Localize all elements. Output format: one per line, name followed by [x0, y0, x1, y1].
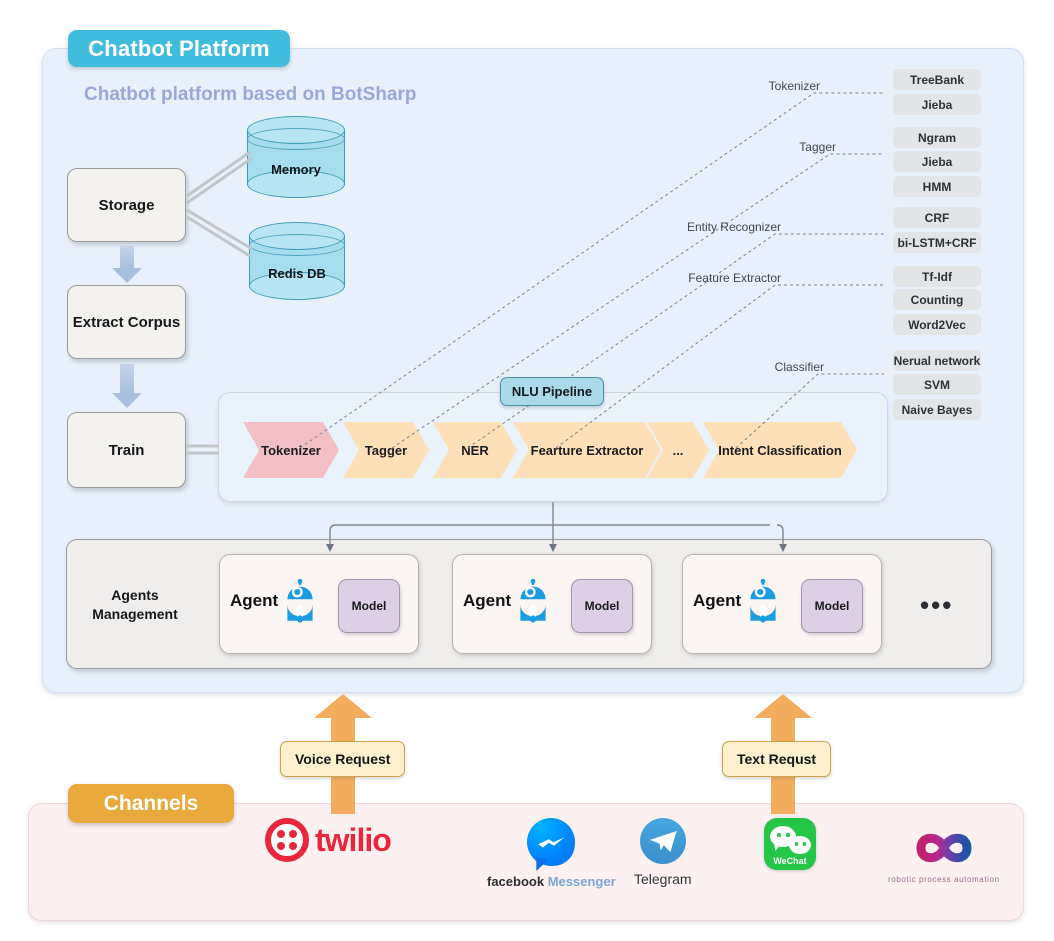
agents-title-line2: Management	[92, 606, 178, 622]
channel-telegram[interactable]: Telegram	[634, 818, 692, 887]
agent-card-2[interactable]: AgentModel	[682, 554, 882, 654]
nlu-stage-label: Tagger	[365, 443, 407, 458]
algorithm-tag-crf[interactable]: CRF	[893, 207, 981, 228]
agent-card-1[interactable]: AgentModel	[452, 554, 652, 654]
agent-card-label: Agent	[693, 591, 741, 611]
flow-box-storage[interactable]: Storage	[67, 168, 186, 242]
database-label: Redis DB	[249, 266, 345, 281]
nlu-stage-3[interactable]: Fearture Extractor	[513, 422, 661, 478]
wechat-caption: WeChat	[764, 856, 816, 866]
agent-card-label: Agent	[230, 591, 278, 611]
connector-label-entity-recognizer: Entity Recognizer	[581, 220, 781, 234]
algorithm-tag-treebank[interactable]: TreeBank	[893, 69, 981, 90]
connector-label-classifier: Classifier	[624, 360, 824, 374]
flow-box-extract-corpus[interactable]: Extract Corpus	[67, 285, 186, 359]
messenger-bolt-icon	[538, 835, 564, 850]
nlu-stage-label: ...	[673, 443, 684, 458]
algorithm-tag-tf-idf[interactable]: Tf-Idf	[893, 266, 981, 287]
rpa-caption: robotic process automation	[888, 875, 1000, 884]
channels-badge: Channels	[68, 784, 234, 823]
agent-model-box[interactable]: Model	[338, 579, 400, 633]
nlu-pipeline-tag: NLU Pipeline	[500, 377, 604, 406]
messenger-caption: facebook Messenger	[487, 874, 616, 889]
algorithm-tag-hmm[interactable]: HMM	[893, 176, 981, 197]
twilio-icon	[265, 818, 309, 862]
rpa-infinity-icon	[898, 825, 990, 871]
arrow-head	[314, 694, 372, 718]
agents-title-line1: Agents	[111, 587, 158, 603]
agents-overflow-ellipsis: •••	[920, 590, 953, 621]
robot-icon	[745, 579, 781, 623]
agent-card-label: Agent	[463, 591, 511, 611]
request-tag-text-requst: Text Requst	[722, 741, 831, 777]
arrow-head	[754, 694, 812, 718]
algorithm-tag-bi-lstm-crf[interactable]: bi-LSTM+CRF	[893, 232, 981, 253]
connector-label-tagger: Tagger	[636, 140, 836, 154]
robot-icon	[515, 579, 551, 623]
agent-card-0[interactable]: AgentModel	[219, 554, 419, 654]
database-label: Memory	[247, 162, 345, 177]
arrow-corpus-to-train	[112, 364, 142, 409]
algorithm-tag-naive-bayes[interactable]: Naive Bayes	[893, 399, 981, 420]
telegram-caption: Telegram	[634, 871, 692, 887]
request-tag-voice-request: Voice Request	[280, 741, 405, 777]
platform-badge: Chatbot Platform	[68, 30, 290, 67]
database-memory[interactable]: Memory	[247, 116, 345, 198]
nlu-stage-5[interactable]: Intent Classification	[703, 422, 857, 478]
nlu-stage-label: NER	[461, 443, 488, 458]
arrow-storage-to-corpus	[112, 246, 142, 283]
connector-label-tokenizer: Tokenizer	[620, 79, 820, 93]
cylinder-ring	[249, 234, 345, 256]
algorithm-tag-ngram[interactable]: Ngram	[893, 127, 981, 148]
telegram-plane-icon	[650, 831, 677, 852]
algorithm-tag-word2vec[interactable]: Word2Vec	[893, 314, 981, 335]
database-redis[interactable]: Redis DB	[249, 222, 345, 300]
nlu-stage-label: Tokenizer	[261, 443, 321, 458]
connector-label-feature-extractor: Feature Extractor	[581, 271, 781, 285]
twilio-logo: twilio	[265, 818, 391, 862]
algorithm-tag-svm[interactable]: SVM	[893, 374, 981, 395]
algorithm-tag-counting[interactable]: Counting	[893, 289, 981, 310]
cylinder-ring	[247, 128, 345, 150]
flow-box-train[interactable]: Train	[67, 412, 186, 488]
telegram-icon	[640, 818, 686, 864]
messenger-icon	[527, 818, 575, 866]
platform-subtitle: Chatbot platform based on BotSharp	[84, 84, 417, 106]
wechat-bubble-small	[789, 836, 811, 854]
nlu-stage-label: Fearture Extractor	[531, 443, 644, 458]
agent-model-box[interactable]: Model	[571, 579, 633, 633]
agent-model-box[interactable]: Model	[801, 579, 863, 633]
algorithm-tag-jieba[interactable]: Jieba	[893, 151, 981, 172]
diagram-canvas: Chatbot Platform Chatbot platform based …	[0, 0, 1054, 941]
channel-wechat[interactable]: WeChat	[764, 818, 816, 870]
robot-icon	[282, 579, 318, 623]
channel-messenger[interactable]: facebook Messenger	[487, 818, 616, 889]
agents-management-title: Agents Management	[80, 586, 190, 624]
algorithm-tag-nerual-network[interactable]: Nerual network	[893, 350, 981, 371]
algorithm-tag-jieba[interactable]: Jieba	[893, 94, 981, 115]
messenger-caption-messenger: Messenger	[548, 874, 616, 889]
channel-twilio[interactable]: twilio	[265, 818, 391, 862]
nlu-stage-label: Intent Classification	[718, 443, 842, 458]
channel-rpa[interactable]: robotic process automation	[888, 825, 1000, 884]
messenger-caption-facebook: facebook	[487, 874, 544, 889]
twilio-wordmark: twilio	[315, 822, 391, 859]
wechat-icon: WeChat	[764, 818, 816, 870]
